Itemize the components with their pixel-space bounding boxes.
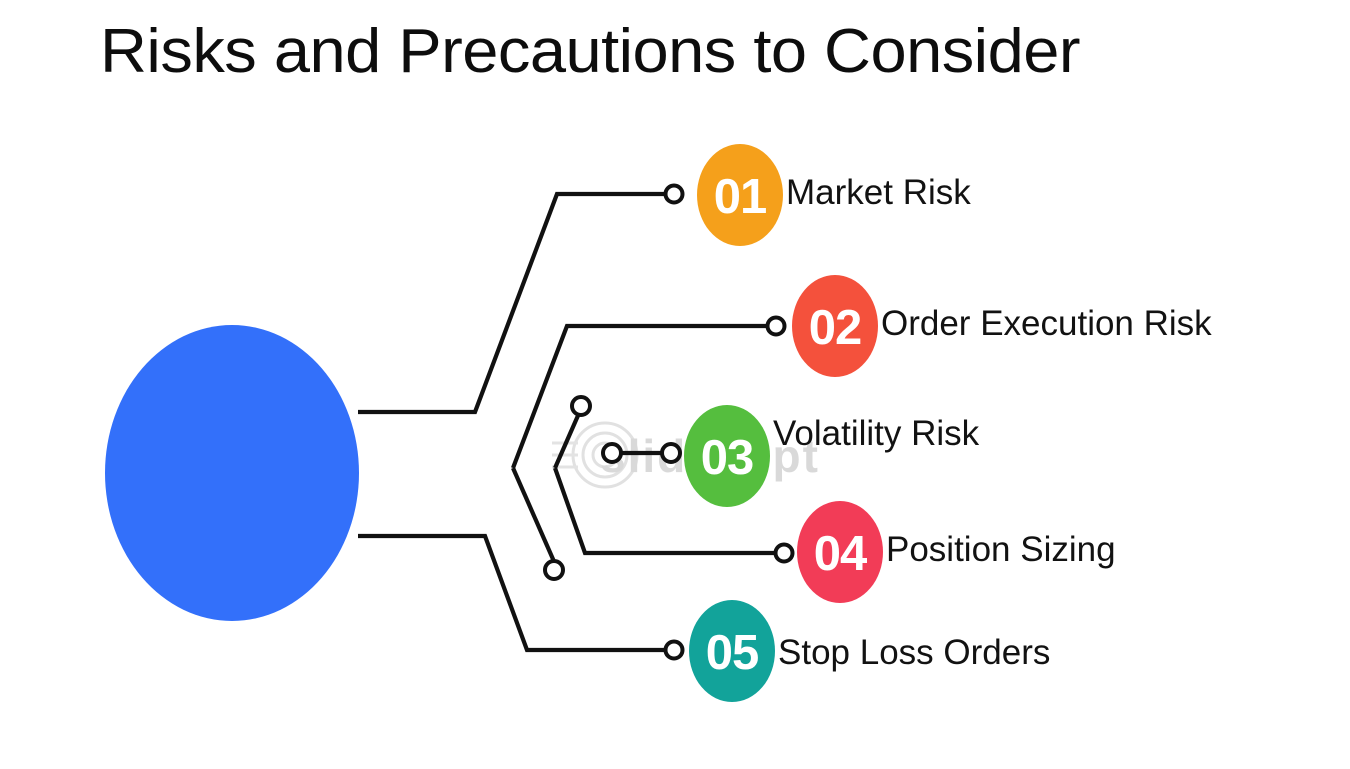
node-label-02: Order Execution Risk bbox=[881, 304, 1212, 343]
infographic-svg: slidesppt 01 Market Ris bbox=[0, 0, 1350, 769]
node-number-03: 03 bbox=[701, 431, 754, 485]
endpoint-circle-stub-upper bbox=[572, 397, 590, 415]
endpoint-circle-01 bbox=[666, 186, 683, 203]
node-number-05: 05 bbox=[706, 626, 759, 680]
node-label-05: Stop Loss Orders bbox=[778, 633, 1050, 672]
endpoint-circle-03-left bbox=[603, 444, 621, 462]
node-number-01: 01 bbox=[714, 170, 767, 224]
node-label-03: Volatility Risk bbox=[773, 414, 980, 453]
central-hub-ellipse[interactable] bbox=[105, 325, 359, 621]
endpoint-circle-04 bbox=[776, 545, 793, 562]
node-label-01: Market Risk bbox=[786, 173, 971, 212]
page-title: Risks and Precautions to Consider bbox=[100, 17, 1080, 86]
endpoint-circle-05 bbox=[666, 642, 683, 659]
node-item-04[interactable]: 04 bbox=[797, 501, 883, 603]
connector-stub-lower bbox=[513, 468, 556, 566]
slide-canvas: slidesppt 01 Market Ris bbox=[0, 0, 1350, 769]
endpoint-circle-03-right bbox=[662, 444, 680, 462]
node-number-04: 04 bbox=[814, 527, 867, 581]
node-number-02: 02 bbox=[809, 301, 862, 355]
node-label-04: Position Sizing bbox=[886, 530, 1116, 569]
node-item-02[interactable]: 02 bbox=[792, 275, 878, 377]
endpoint-circle-stub-lower bbox=[545, 561, 563, 579]
node-item-01[interactable]: 01 bbox=[697, 144, 783, 246]
endpoint-circle-02 bbox=[768, 318, 785, 335]
node-item-03[interactable]: 03 bbox=[684, 405, 770, 507]
node-item-05[interactable]: 05 bbox=[689, 600, 775, 702]
connector-line-01 bbox=[358, 194, 667, 412]
